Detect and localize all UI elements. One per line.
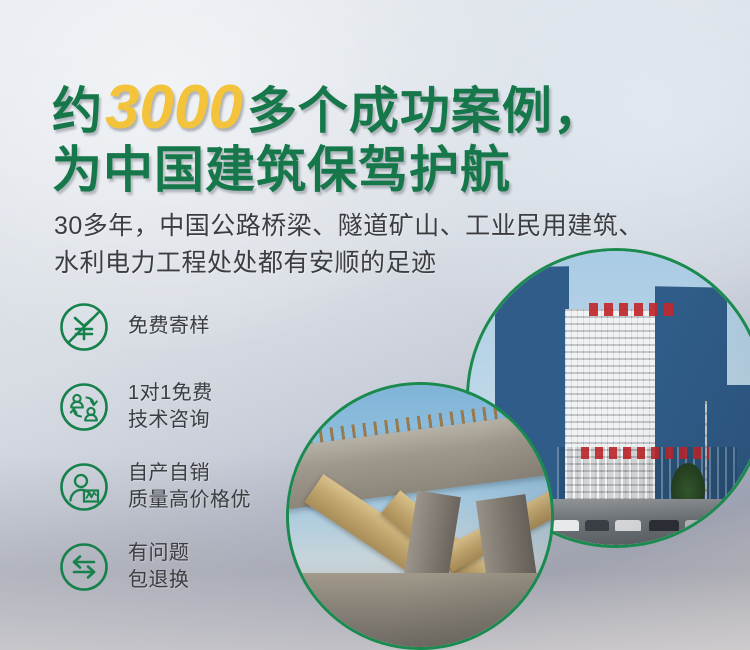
headline-line-1: 约3000多个成功案例， (52, 76, 712, 140)
bridge-ground (289, 573, 551, 647)
feature-line-2: 技术咨询 (128, 407, 213, 434)
one-to-one-consult-icon (58, 381, 110, 433)
bridge-photo (286, 382, 554, 650)
headline-number: 3000 (103, 73, 247, 142)
headline: 约3000多个成功案例， 为中国建筑保驾护航 (52, 76, 712, 196)
building-roof-signage (589, 303, 675, 316)
feature-label: 自产自销 质量高价格优 (128, 460, 251, 514)
subtitle-line-2: 水利电力工程处处都有安顺的足迹 (54, 245, 724, 282)
parked-car (553, 520, 579, 531)
parked-car (649, 520, 679, 531)
parked-car (685, 520, 707, 531)
feature-list: 免费寄样 1对1免费 技术咨询 (58, 296, 251, 598)
feature-line-1: 自产自销 (128, 462, 210, 484)
parked-car (615, 520, 641, 531)
feature-label: 1对1免费 技术咨询 (128, 380, 213, 434)
headline-suffix: 多个成功案例， (247, 83, 604, 139)
no-fee-yuan-icon (58, 301, 110, 353)
headline-line-2: 为中国建筑保驾护航 (52, 144, 712, 196)
feature-item-self-production: 自产自销 质量高价格优 (58, 456, 251, 518)
feature-item-return-exchange: 有问题 包退换 (58, 536, 251, 598)
feature-item-free-consulting: 1对1免费 技术咨询 (58, 376, 251, 438)
subtitle-line-1: 30多年，中国公路桥梁、隧道矿山、工业民用建筑、 (54, 208, 724, 245)
feature-label: 免费寄样 (128, 313, 210, 340)
feature-line-1: 免费寄样 (128, 315, 210, 337)
bridge-photo-inner (289, 385, 551, 647)
feature-item-free-sample: 免费寄样 (58, 296, 251, 358)
feature-line-2: 质量高价格优 (128, 487, 251, 514)
feature-line-1: 1对1免费 (128, 382, 213, 404)
parked-car (585, 520, 609, 531)
exchange-arrows-icon (58, 541, 110, 593)
feature-label: 有问题 包退换 (128, 540, 190, 594)
self-produce-chart-icon (58, 461, 110, 513)
subtitle: 30多年，中国公路桥梁、隧道矿山、工业民用建筑、 水利电力工程处处都有安顺的足迹 (54, 208, 724, 282)
feature-line-1: 有问题 (128, 542, 190, 564)
feature-line-2: 包退换 (128, 567, 190, 594)
promo-banner: 约3000多个成功案例， 为中国建筑保驾护航 30多年，中国公路桥梁、隧道矿山、… (0, 0, 750, 650)
building-entrance-signage (581, 447, 709, 459)
headline-prefix: 约 (52, 83, 103, 139)
